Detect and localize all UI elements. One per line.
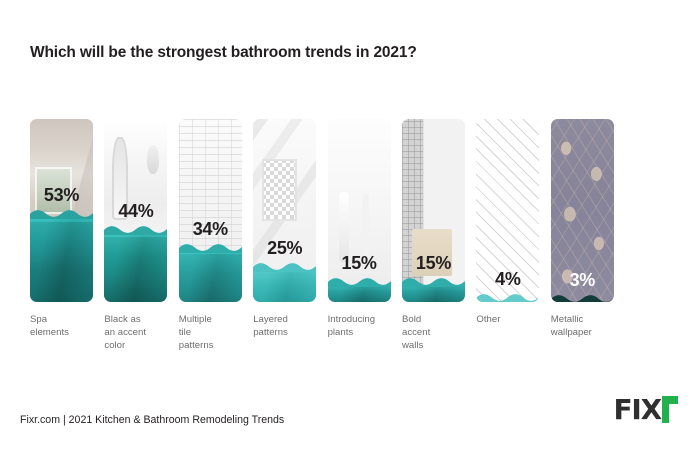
bar-1[interactable] — [30, 119, 93, 302]
bar-slot: 3% — [551, 119, 614, 302]
bar-slot: 53% — [30, 119, 93, 302]
fixr-logo-r-icon — [662, 396, 678, 423]
page-title: Which will be the strongest bathroom tre… — [30, 44, 417, 62]
bar-water-fill — [179, 242, 242, 302]
bar-category-label: Boldaccentwalls — [402, 313, 471, 353]
bar-category-label: Other — [476, 313, 545, 326]
footer-credit: Fixr.com | 2021 Kitchen & Bathroom Remod… — [20, 414, 284, 426]
bar-4[interactable] — [253, 119, 316, 302]
bar-water-fill — [104, 224, 167, 302]
bar-6[interactable] — [402, 119, 465, 302]
bar-water-fill — [328, 276, 391, 302]
diagonal-hatch-placeholder — [476, 119, 539, 302]
fixr-logo: FIX — [613, 396, 678, 424]
bar-water-fill — [551, 293, 614, 302]
bar-water-fill — [402, 276, 465, 302]
bar-water-fill — [476, 292, 539, 302]
bar-slot: 4% — [476, 119, 539, 302]
bar-chart: 53%44%34%25%15%15%4%3% — [30, 119, 670, 302]
bar-water-fill — [253, 261, 316, 302]
plants-bathroom-photo — [328, 119, 391, 302]
metallic-damask-wallpaper — [551, 119, 614, 302]
bar-category-label: Spaelements — [30, 313, 99, 339]
bar-slot: 44% — [104, 119, 167, 302]
bar-category-label: Metallicwallpaper — [551, 313, 620, 339]
bar-7[interactable] — [476, 119, 539, 302]
bar-category-label: Black asan accentcolor — [104, 313, 173, 353]
bar-slot: 15% — [402, 119, 465, 302]
bar-8[interactable] — [551, 119, 614, 302]
bold-accent-wall-photo — [402, 119, 465, 302]
bar-category-label: Layeredpatterns — [253, 313, 322, 339]
infographic-canvas: Which will be the strongest bathroom tre… — [0, 0, 700, 458]
bar-5[interactable] — [328, 119, 391, 302]
bar-category-label: Multipletilepatterns — [179, 313, 248, 353]
bar-water-fill — [30, 208, 93, 302]
bar-slot: 25% — [253, 119, 316, 302]
bar-slot: 15% — [328, 119, 391, 302]
bar-2[interactable] — [104, 119, 167, 302]
bar-3[interactable] — [179, 119, 242, 302]
bar-category-label: Introducingplants — [328, 313, 397, 339]
bar-slot: 34% — [179, 119, 242, 302]
fixr-logo-wordmark: FIX — [613, 396, 661, 424]
